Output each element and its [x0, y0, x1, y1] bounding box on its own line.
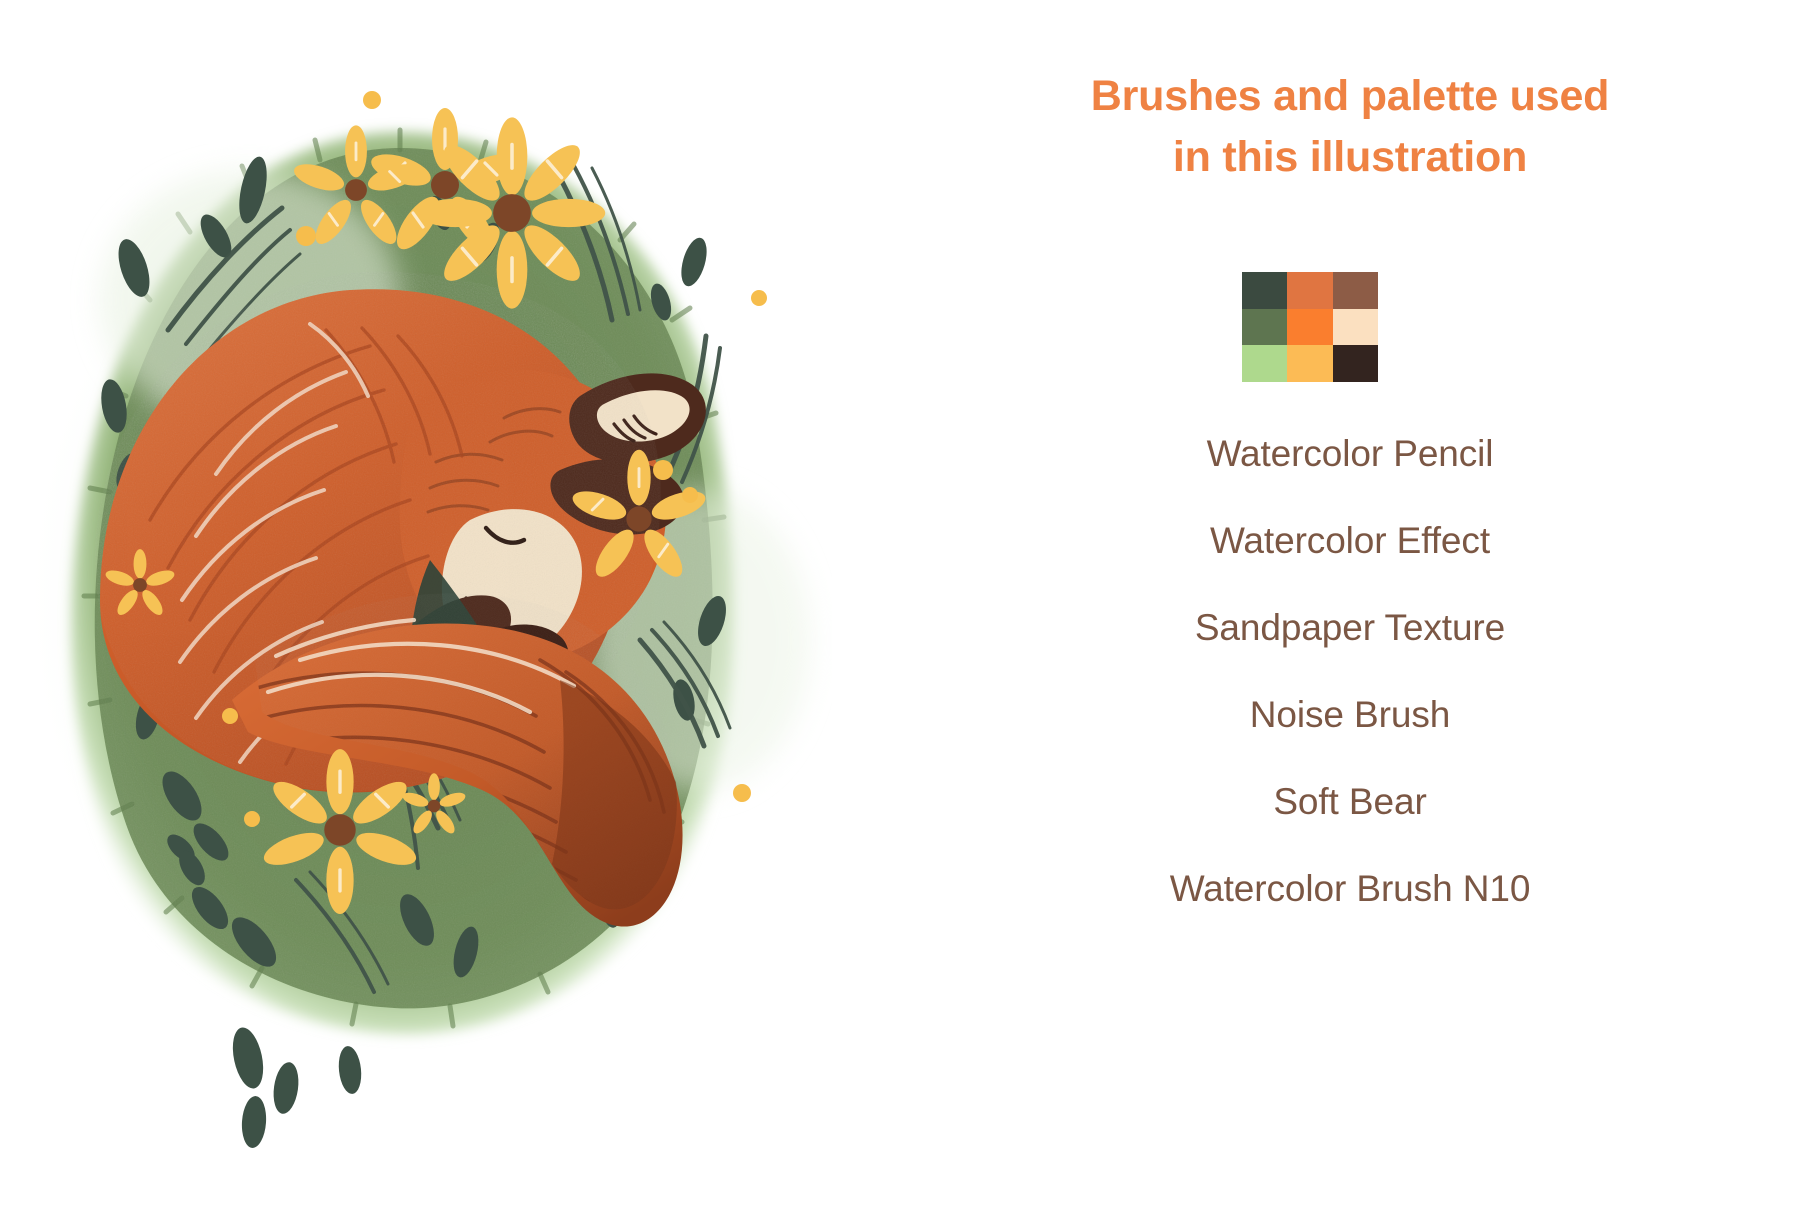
palette-swatch-golden-yellow — [1287, 345, 1332, 382]
info-panel: Brushes and palette used in this illustr… — [880, 0, 1820, 1214]
brush-list-item: Watercolor Pencil — [880, 410, 1820, 497]
brush-list: Watercolor PencilWatercolor EffectSandpa… — [880, 410, 1820, 932]
palette-swatch-moss-green — [1242, 309, 1287, 346]
brush-list-item: Sandpaper Texture — [880, 584, 1820, 671]
sleeping-fox-illustration — [0, 0, 880, 1214]
palette-swatch-cream — [1333, 309, 1378, 346]
brush-list-item: Watercolor Effect — [880, 497, 1820, 584]
page-title: Brushes and palette used in this illustr… — [880, 66, 1820, 188]
page-title-line-1: Brushes and palette used — [1091, 72, 1610, 120]
palette-swatch-bright-orange — [1287, 309, 1332, 346]
illustration-promo-page: Brushes and palette used in this illustr… — [0, 0, 1820, 1214]
palette-swatch-burnt-orange — [1287, 272, 1332, 309]
color-palette-grid — [1242, 272, 1378, 382]
palette-swatch-dark-chocolate — [1333, 345, 1378, 382]
brush-list-item: Noise Brush — [880, 671, 1820, 758]
brush-list-item: Soft Bear — [880, 758, 1820, 845]
page-title-line-2: in this illustration — [880, 127, 1820, 188]
palette-swatch-medium-brown — [1333, 272, 1378, 309]
palette-swatch-dark-green — [1242, 272, 1287, 309]
palette-swatch-light-green — [1242, 345, 1287, 382]
brush-list-item: Watercolor Brush N10 — [880, 845, 1820, 932]
